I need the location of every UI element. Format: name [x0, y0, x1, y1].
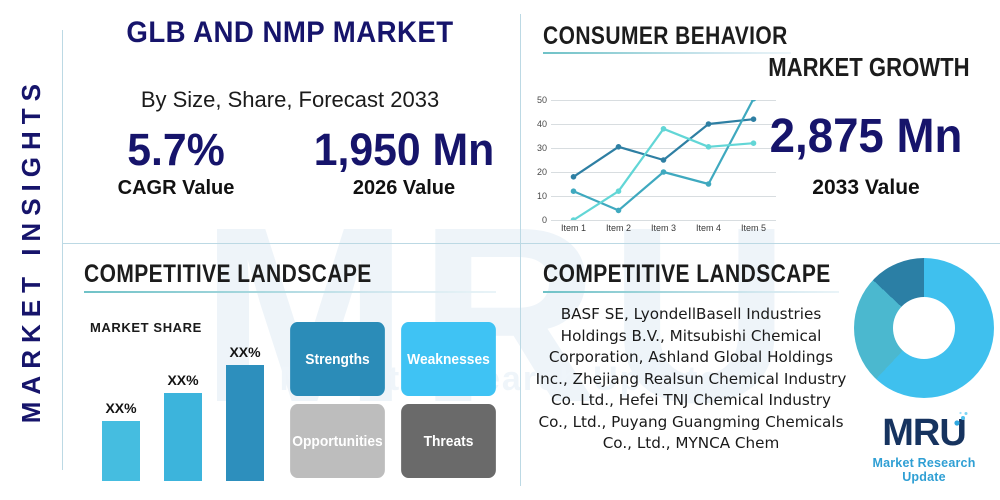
kpi-2026-value: 1,950 Mn — [296, 126, 513, 173]
chart-gridline — [551, 220, 776, 221]
x-axis-tick-label: Item 1 — [561, 223, 586, 233]
market-growth-label: 2033 Value — [751, 176, 981, 200]
line-data-point — [706, 121, 712, 127]
consumer-behavior-heading: CONSUMER BEHAVIOR — [543, 22, 788, 51]
y-axis-tick-label: 20 — [537, 167, 547, 177]
y-axis-tick-label: 10 — [537, 191, 547, 201]
line-data-point — [751, 140, 757, 146]
sidebar: MARKET INSIGHTS — [0, 0, 62, 500]
y-axis-tick-label: 50 — [537, 95, 547, 105]
line-data-point — [661, 157, 667, 163]
bar — [102, 421, 140, 481]
line-data-point — [616, 144, 622, 150]
donut-chart — [854, 258, 994, 398]
bar-column: XX% — [102, 421, 140, 481]
swot-box-strengths[interactable]: Strengths — [290, 322, 385, 396]
line-series — [574, 100, 754, 210]
competitive-landscape-left-rule — [84, 291, 496, 293]
bar-value-label: XX% — [167, 372, 198, 388]
line-chart-svg — [551, 100, 776, 220]
logo-mark: MRU — [882, 414, 966, 452]
y-axis-tick-label: 40 — [537, 119, 547, 129]
line-chart: 01020304050Item 1Item 2Item 3Item 4Item … — [551, 100, 776, 220]
page-subtitle: By Size, Share, Forecast 2033 — [62, 87, 518, 113]
swot-box-opportunities[interactable]: Opportunities — [290, 404, 385, 478]
x-axis-tick-label: Item 5 — [741, 223, 766, 233]
bar-value-label: XX% — [105, 400, 136, 416]
line-data-point — [571, 188, 577, 194]
bubbles-icon — [952, 410, 970, 428]
line-data-point — [751, 116, 757, 122]
kpi-cagr: 5.7% CAGR Value — [62, 126, 290, 200]
competitive-landscape-left-heading: COMPETITIVE LANDSCAPE — [84, 260, 372, 289]
bar-column: XX% — [226, 365, 264, 481]
sidebar-label: MARKET INSIGHTS — [16, 77, 47, 423]
swot-grid: StrengthsWeaknessesOpportunitiesThreats — [286, 322, 500, 478]
panel-overview: GLB AND NMP MARKET By Size, Share, Forec… — [62, 0, 518, 243]
x-axis-tick-label: Item 2 — [606, 223, 631, 233]
logo-subtitle: Market Research Update — [854, 456, 994, 484]
company-list: BASF SE, LyondellBasell Industries Holdi… — [535, 304, 847, 455]
x-axis-tick-label: Item 3 — [651, 223, 676, 233]
market-share-title: MARKET SHARE — [90, 320, 202, 335]
kpi-cagr-label: CAGR Value — [62, 177, 290, 200]
panel-competitive-landscape-right: COMPETITIVE LANDSCAPE BASF SE, LyondellB… — [521, 244, 1000, 500]
panel-competitive-landscape-left: COMPETITIVE LANDSCAPE MARKET SHARE XX%XX… — [62, 244, 518, 500]
bar-column: XX% — [164, 393, 202, 481]
market-growth-value: 2,875 Mn — [757, 112, 976, 162]
y-axis-tick-label: 30 — [537, 143, 547, 153]
market-growth-title: MARKET GROWTH — [768, 52, 964, 83]
line-data-point — [616, 208, 622, 214]
panel-consumer-behavior: CONSUMER BEHAVIOR 01020304050Item 1Item … — [521, 0, 1000, 243]
swot-box-threats[interactable]: Threats — [401, 404, 496, 478]
bar — [164, 393, 202, 481]
brand-logo: MRU Market Research Update — [854, 414, 994, 484]
donut-hole — [893, 297, 955, 359]
kpi-cagr-value: 5.7% — [68, 126, 285, 173]
market-share-bar-chart: XX%XX%XX% — [102, 339, 282, 481]
y-axis-tick-label: 0 — [542, 215, 547, 225]
bar — [226, 365, 264, 481]
line-data-point — [706, 144, 712, 150]
bar-value-label: XX% — [229, 344, 260, 360]
kpi-2026: 1,950 Mn 2026 Value — [290, 126, 518, 200]
kpi-group: 5.7% CAGR Value 1,950 Mn 2026 Value — [62, 126, 518, 200]
kpi-2026-label: 2026 Value — [290, 177, 518, 200]
x-axis-tick-label: Item 4 — [696, 223, 721, 233]
infographic-canvas: MRU Market Research Update MARKET INSIGH… — [0, 0, 1000, 500]
line-data-point — [661, 126, 667, 132]
consumer-behavior-rule — [543, 52, 791, 54]
competitive-landscape-right-heading: COMPETITIVE LANDSCAPE — [543, 260, 831, 289]
line-data-point — [706, 181, 712, 187]
competitive-landscape-right-rule — [543, 291, 839, 293]
line-data-point — [661, 169, 667, 175]
line-data-point — [616, 188, 622, 194]
line-data-point — [571, 174, 577, 180]
swot-box-weaknesses[interactable]: Weaknesses — [401, 322, 496, 396]
page-title: GLB AND NMP MARKET — [80, 16, 500, 50]
